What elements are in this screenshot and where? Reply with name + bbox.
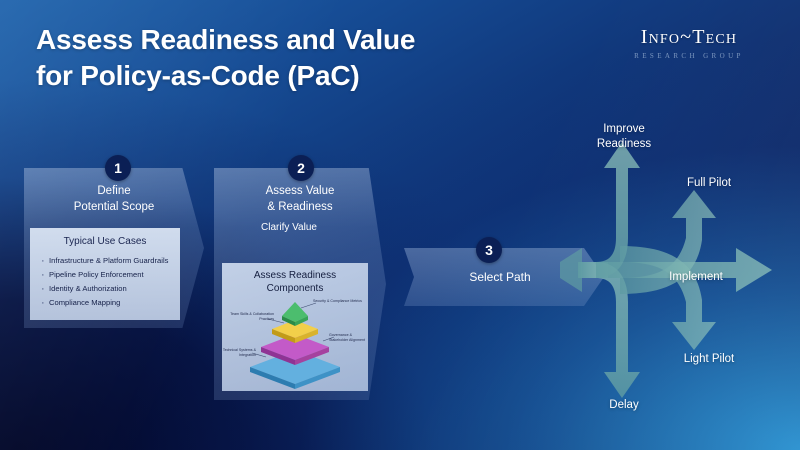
use-cases-list: Infrastructure & Platform Guardrails Pip… <box>39 255 171 308</box>
list-item: Identity & Authorization <box>49 283 171 294</box>
pyramid-label-team-skills-text: Team Skills & Collaboration Practices <box>230 312 274 321</box>
list-item: Infrastructure & Platform Guardrails <box>49 255 171 266</box>
pyramid-diagram <box>222 297 368 389</box>
outcome-label-improve-readiness: Improve Readiness <box>576 122 672 152</box>
step-2-number: 2 <box>297 160 305 176</box>
pyramid-label-security: Security & Compliance Metrics <box>313 299 367 304</box>
logo-tagline-text: RESEARCH GROUP <box>604 52 774 60</box>
pyramid-label-governance: Governance & Stakeholder Alignment <box>329 333 369 343</box>
step-3-number: 3 <box>485 242 493 258</box>
pyramid-title-line1: Assess Readiness <box>226 270 364 283</box>
pyramid-label-technical-systems-text: Technical Systems & Integration <box>223 348 256 357</box>
step-2-title-line2: & Readiness <box>222 200 378 216</box>
pyramid-label-technical-systems: Technical Systems & Integration <box>220 348 256 358</box>
outcome-full-pilot-text: Full Pilot <box>687 177 731 189</box>
outcome-light-pilot-text: Light Pilot <box>684 353 735 365</box>
step-1-number: 1 <box>114 160 122 176</box>
page-title-line2: for Policy-as-Code (PaC) <box>36 58 556 94</box>
pyramid-label-security-text: Security & Compliance Metrics <box>313 299 362 303</box>
pyramid-graphic-title: Assess Readiness Components <box>226 270 364 296</box>
pyramid-tier-security <box>282 302 308 326</box>
step-2-title-line1: Assess Value <box>222 184 378 200</box>
pyramid-label-governance-text: Governance & Stakeholder Alignment <box>329 333 365 342</box>
page-title-line1: Assess Readiness and Value <box>36 22 556 58</box>
use-cases-title: Typical Use Cases <box>39 235 171 250</box>
list-item: Compliance Mapping <box>49 297 171 308</box>
pyramid-title-line2: Components <box>226 283 364 296</box>
step-1-title-line1: Define <box>32 184 196 200</box>
page-title: Assess Readiness and Value for Policy-as… <box>36 22 556 95</box>
arrow-light-pilot-icon <box>620 246 716 350</box>
typical-use-cases-panel: Typical Use Cases Infrastructure & Platf… <box>30 228 180 320</box>
outcome-improve-line1: Improve <box>603 123 645 135</box>
outcome-label-light-pilot: Light Pilot <box>666 352 752 367</box>
step-3-badge: 3 <box>476 237 502 263</box>
list-item: Pipeline Policy Enforcement <box>49 269 171 280</box>
outcome-label-implement: Implement <box>648 270 744 285</box>
logo-brand-text: Info~Tech <box>604 26 774 49</box>
outcome-delay-text: Delay <box>609 399 638 411</box>
step-1-title-line2: Potential Scope <box>32 200 196 216</box>
outcome-arrow-fan: Improve Readiness Full Pilot Implement L… <box>560 120 800 420</box>
outcome-label-delay: Delay <box>582 398 666 413</box>
slide-canvas: Assess Readiness and Value for Policy-as… <box>0 0 800 450</box>
assess-readiness-components-graphic: Assess Readiness Components <box>222 263 368 391</box>
step-2-badge: 2 <box>288 155 314 181</box>
pyramid-label-team-skills: Team Skills & Collaboration Practices <box>228 312 274 322</box>
clarify-value-label: Clarify Value <box>214 222 364 233</box>
outcome-improve-line2: Readiness <box>597 138 651 150</box>
info-tech-logo: Info~Tech RESEARCH GROUP <box>604 26 774 60</box>
outcome-label-full-pilot: Full Pilot <box>666 176 752 191</box>
step-3-title: Select Path <box>469 270 530 284</box>
outcome-implement-text: Implement <box>669 271 723 283</box>
step-1-badge: 1 <box>105 155 131 181</box>
